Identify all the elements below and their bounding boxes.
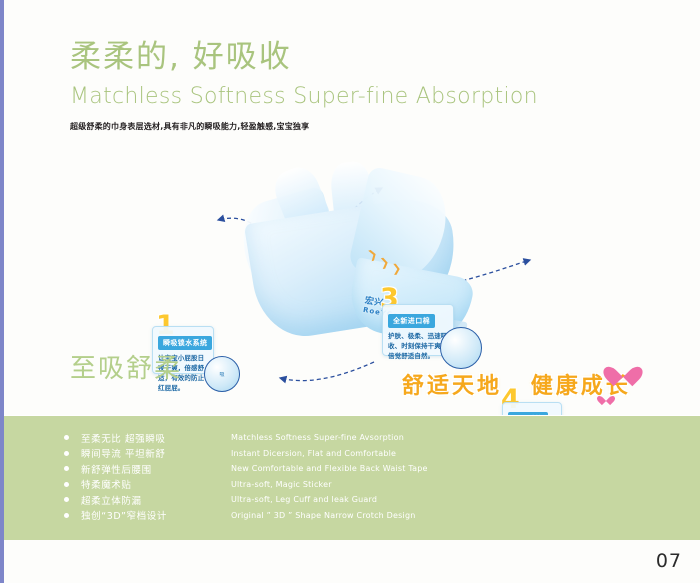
feature-label-cn: 超柔立体防漏 [81,493,231,507]
feature-label-cn: 新舒弹性后腰围 [81,462,231,476]
bullet-icon [64,466,69,471]
page-header: 柔柔的, 好吸收 Matchless Softness Super-fine A… [70,40,630,132]
feature-label-en: Ultra-soft, Leg Cuff and leak Guard [231,495,377,504]
page-footer: 07 [4,540,700,583]
heart-icon-small [600,392,612,403]
bullet-icon [64,497,69,502]
callout-thumbnail-label-1: 吸 [205,371,239,378]
page-subtitle: 超级舒柔的巾身表层选材,具有非凡的瞬吸能力,轻盈触感,宝宝独享 [70,121,630,132]
page-title-cn: 柔柔的, 好吸收 [70,40,630,76]
bullet-icon [64,482,69,487]
feature-label-en: Matchless Softness Super-fine Avsorption [231,433,404,442]
callout-thumbnail-1: 吸 [204,356,240,392]
feature-label-cn: 瞬间导流 平坦新舒 [81,446,231,460]
feature-band: 至柔无比 超强瞬吸 Matchless Softness Super-fine … [4,415,700,541]
feature-row: 新舒弹性后腰围 New Comfortable and Flexible Bac… [64,461,680,477]
heart-icon-large [610,358,636,382]
feature-row: 瞬间导流 平坦新舒 Instant Dicersion, Flat and Co… [64,446,680,462]
bullet-icon [64,435,69,440]
feature-row: 独创“3D”窄档设计 Original ” 3D ” Shape Narrow … [64,508,680,524]
accent-text-left: 至吸舒柔 [70,348,182,385]
callout-thumbnail-3 [440,327,482,369]
absorption-arrow-icon: ❯ [379,255,390,269]
callout-body-3: 护肤、极柔、迅速吸收、时刻保持干爽，倍觉舒适自然。 [388,331,448,361]
absorption-arrow-icon: ❯ [392,262,402,276]
feature-label-en: Original ” 3D ” Shape Narrow Crotch Desi… [231,511,416,520]
bullet-icon [64,513,69,518]
bullet-icon [64,451,69,456]
accent-text-right-1: 舒适天地 [402,374,502,399]
page-title-en: Matchless Softness Super-fine Absorption [70,84,630,109]
feature-row: 特柔魔术贴 Ultra-soft, Magic Sticker [64,477,680,493]
feature-label-cn: 特柔魔术贴 [81,477,231,491]
feature-label-en: Instant Dicersion, Flat and Comfortable [231,449,396,458]
page-number: 07 [656,550,682,572]
accent-text-right: 舒适天地 健康成长 [402,368,631,400]
feature-label-cn: 独创“3D”窄档设计 [81,508,231,522]
brochure-page: 柔柔的, 好吸收 Matchless Softness Super-fine A… [0,0,700,583]
feature-label-en: Ultra-soft, Magic Sticker [231,480,332,489]
feature-label-cn: 至柔无比 超强瞬吸 [81,431,231,445]
feature-row: 超柔立体防漏 Ultra-soft, Leg Cuff and leak Gua… [64,492,680,508]
feature-label-en: New Comfortable and Flexible Back Waist … [231,464,428,473]
feature-list: 至柔无比 超强瞬吸 Matchless Softness Super-fine … [64,430,680,523]
callout-title-3: 全新进口棉 [388,314,435,328]
feature-row: 至柔无比 超强瞬吸 Matchless Softness Super-fine … [64,430,680,446]
